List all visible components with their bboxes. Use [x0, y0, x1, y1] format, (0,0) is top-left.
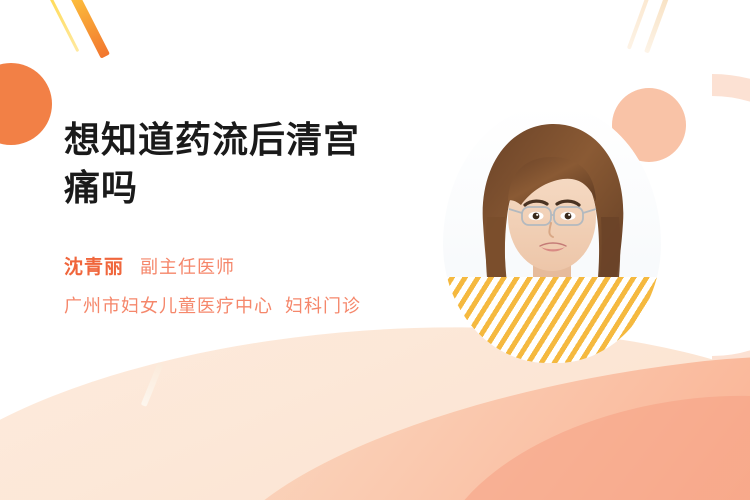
- doctor-intro-card: 想知道药流后清宫 痛吗 沈青丽 副主任医师 广州市妇女儿童医疗中心 妇科门诊: [0, 0, 750, 500]
- page-title: 想知道药流后清宫 痛吗: [64, 116, 414, 212]
- doctor-hospital: 广州市妇女儿童医疗中心 妇科门诊: [64, 292, 464, 318]
- doctor-name-row: 沈青丽 副主任医师: [64, 252, 464, 279]
- content-layer: 想知道药流后清宫 痛吗 沈青丽 副主任医师 广州市妇女儿童医疗中心 妇科门诊: [0, 0, 750, 500]
- doctor-meta: 沈青丽 副主任医师 广州市妇女儿童医疗中心 妇科门诊: [64, 252, 464, 318]
- doctor-rank: 副主任医师: [140, 253, 235, 279]
- doctor-name: 沈青丽: [64, 252, 124, 279]
